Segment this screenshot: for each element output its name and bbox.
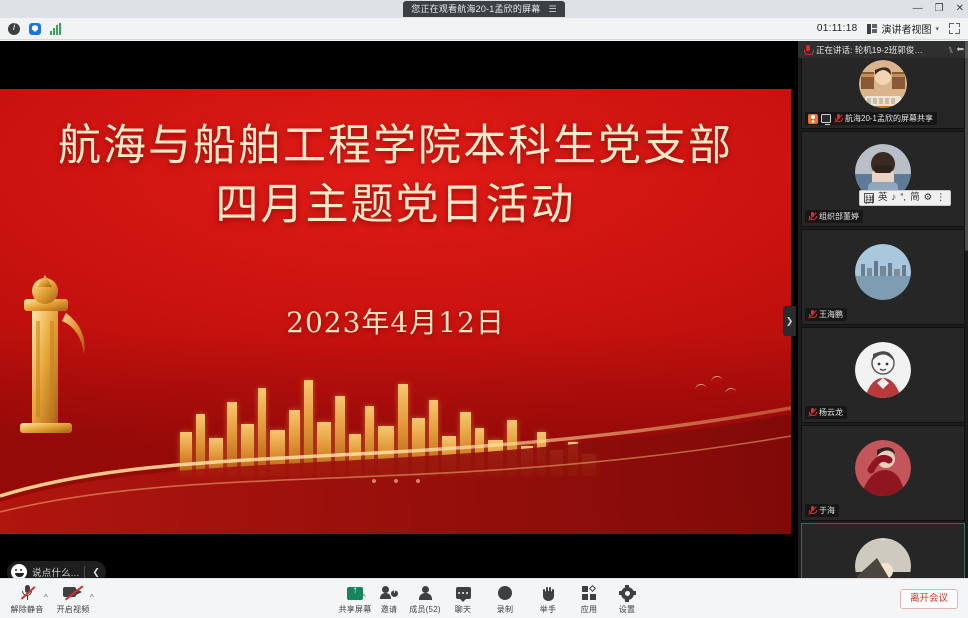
- presentation-slide: 航海与船舶工程学院本科生党支部 四月主题党日活动 2023年4月12日: [0, 89, 791, 534]
- participant-namebar: 航海20-1孟欣的屏幕共享: [805, 112, 937, 125]
- video-options-chevron[interactable]: ^: [90, 593, 94, 602]
- slide-title-line2: 四月主题党日活动: [0, 176, 791, 235]
- slide-title: 航海与船舶工程学院本科生党支部 四月主题党日活动: [0, 117, 791, 236]
- participant-rail[interactable]: 航海20-1孟欣的屏幕共享 正在讲话: 轮机19-2班郭俊… ⑊ ⬅: [798, 41, 968, 578]
- screen-share-icon: [821, 114, 831, 123]
- view-mode-label: 演讲者视图: [881, 21, 931, 36]
- mic-muted-icon: [834, 114, 842, 123]
- ribbon-decoration: [0, 384, 791, 534]
- video-label: 开启视频: [46, 604, 100, 615]
- emoji-icon[interactable]: [11, 564, 27, 578]
- ime-charset-button[interactable]: 简: [910, 191, 920, 205]
- minimize-button[interactable]: —: [913, 0, 923, 18]
- fullscreen-icon[interactable]: [949, 23, 960, 34]
- participant-name: 王海鹏: [819, 309, 843, 320]
- top-right-controls: 01:11:18 演讲者视图 ▾: [817, 21, 968, 36]
- active-speaker-label: 正在讲话: 轮机19-2班郭俊…: [816, 44, 923, 56]
- avatar: [855, 244, 911, 300]
- participant-name: 航海20-1孟欣的屏幕共享: [845, 113, 933, 124]
- ime-settings-icon[interactable]: ⚙: [924, 191, 933, 205]
- status-icon-group: [0, 23, 62, 35]
- meeting-control-bar: 解除静音 ^ 开启视频 ^ 共享屏幕 ^ 邀请 成员(52): [0, 578, 968, 618]
- slide-date: 2023年4月12日: [0, 301, 791, 341]
- participant-tile[interactable]: 杨云龙: [801, 327, 965, 423]
- avatar: [855, 440, 911, 496]
- panel-collapse-toggle[interactable]: ❯: [783, 306, 796, 336]
- signal-icon[interactable]: [50, 23, 62, 35]
- participant-namebar: 于海: [805, 504, 839, 517]
- ime-language-button[interactable]: 英: [878, 191, 888, 205]
- scroll-down-icon[interactable]: ⌄: [798, 530, 968, 544]
- participant-tile[interactable]: 王海鹏: [801, 229, 965, 325]
- leave-meeting-button[interactable]: 离开会议: [900, 589, 958, 609]
- avatar: [855, 538, 911, 578]
- participant-name: 于海: [819, 505, 835, 516]
- shared-screen-stage: 航海与船舶工程学院本科生党支部 四月主题党日活动 2023年4月12日 说点什么…: [0, 41, 798, 578]
- participant-namebar: 杨云龙: [805, 406, 847, 419]
- ime-music-icon[interactable]: ♪: [892, 191, 897, 205]
- ime-toolbar[interactable]: 拼 英 ♪ ”, 简 ⚙ ⋮: [859, 190, 951, 206]
- chevron-down-icon: ▾: [935, 25, 939, 33]
- ime-mode-icon[interactable]: 拼: [864, 193, 874, 203]
- reaction-comment-bar[interactable]: 说点什么... ❮: [7, 561, 106, 578]
- maximize-button[interactable]: ❐: [935, 0, 944, 18]
- meeting-timer: 01:11:18: [817, 23, 858, 34]
- collapse-icon[interactable]: ❮: [90, 567, 102, 578]
- settings-label: 设置: [600, 604, 654, 615]
- back-arrow-icon[interactable]: ⬅: [956, 44, 964, 55]
- mic-muted-icon: [808, 212, 816, 221]
- divider: [84, 566, 85, 578]
- host-badge: [808, 114, 818, 124]
- view-mode-selector[interactable]: 演讲者视图 ▾: [867, 21, 939, 36]
- slide-dot-decoration: [0, 470, 791, 488]
- signal-bars-icon: ⑊: [948, 45, 953, 55]
- ime-more-icon[interactable]: ⋮: [936, 191, 946, 205]
- mic-muted-icon: [808, 506, 816, 515]
- participant-tile[interactable]: 组织部董婷: [801, 131, 965, 227]
- meeting-window: 您正在观看航海20-1孟欣的屏幕 ☰ — ❐ ✕ 01:11:18 演讲者视图 …: [0, 0, 968, 618]
- screen-share-notice: 您正在观看航海20-1孟欣的屏幕 ☰: [403, 1, 565, 17]
- slide-title-line1: 航海与船舶工程学院本科生党支部: [0, 117, 791, 176]
- speaker-view-icon: [867, 24, 877, 34]
- chevron-right-icon: ❯: [786, 316, 794, 327]
- screen-share-notice-text: 您正在观看航海20-1孟欣的屏幕: [411, 3, 540, 15]
- comment-input[interactable]: 说点什么...: [32, 565, 79, 578]
- participant-tile[interactable]: 于海: [801, 425, 965, 521]
- participant-name: 组织部董婷: [819, 211, 859, 222]
- window-controls: — ❐ ✕: [913, 0, 964, 18]
- close-button[interactable]: ✕: [956, 0, 964, 18]
- meeting-top-toolbar: 01:11:18 演讲者视图 ▾: [0, 18, 968, 40]
- mic-muted-icon: [808, 408, 816, 417]
- ime-punctuation-icon[interactable]: ”,: [900, 191, 906, 205]
- settings-button[interactable]: 设置: [600, 583, 654, 615]
- avatar: [859, 60, 907, 108]
- active-speaker-banner: 正在讲话: 轮机19-2班郭俊… ⑊ ⬅: [798, 41, 968, 58]
- participant-namebar: 组织部董婷: [805, 210, 863, 223]
- settings-gear-icon: [600, 583, 654, 603]
- participant-name: 杨云龙: [819, 407, 843, 418]
- shield-icon[interactable]: [29, 23, 41, 35]
- avatar: [855, 342, 911, 398]
- window-titlebar: 您正在观看航海20-1孟欣的屏幕 ☰ — ❐ ✕: [0, 0, 968, 18]
- share-menu-icon[interactable]: ☰: [548, 3, 556, 15]
- info-icon[interactable]: [8, 23, 20, 35]
- participant-namebar: 王海鹏: [805, 308, 847, 321]
- mic-muted-icon: [808, 310, 816, 319]
- mic-icon: [803, 45, 812, 54]
